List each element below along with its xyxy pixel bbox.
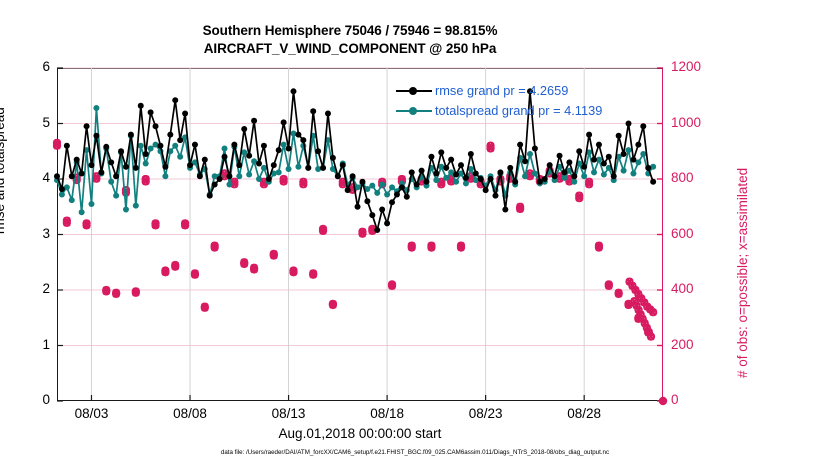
legend-swatch-rmse (396, 85, 432, 97)
chart-title-line-2: AIRCRAFT_V_WIND_COMPONENT @ 250 hPa (0, 40, 700, 58)
chart-legend: rmse grand pr = 4.2659 totalspread grand… (396, 81, 602, 121)
data-file-footer: data file: /Users/raeder/DAI/ATM_forcXX/… (0, 449, 830, 456)
left-axis-tick-1: 1 (10, 337, 50, 352)
bottom-axis-tick-5: 08/28 (549, 406, 619, 421)
left-axis-tick-4: 4 (10, 170, 50, 185)
left-axis-tick-3: 3 (10, 226, 50, 241)
right-axis-tick-400: 400 (671, 281, 717, 296)
right-axis-tick-200: 200 (671, 337, 717, 352)
right-axis-tick-800: 800 (671, 170, 717, 185)
right-axis-label: # of obs: o=possible; x=assimilated (735, 168, 750, 378)
figure-canvas: Southern Hemisphere 75046 / 75946 = 98.8… (0, 0, 830, 470)
legend-item-totalspread[interactable]: totalspread grand pr = 4.1139 (396, 101, 602, 121)
right-axis-tick-600: 600 (671, 226, 717, 241)
right-axis-tick-1000: 1000 (671, 115, 717, 130)
bottom-axis-label: Aug.01,2018 00:00:00 start (57, 426, 663, 441)
right-axis-tick-0: 0 (671, 392, 717, 407)
right-axis-tick-1200: 1200 (671, 59, 717, 74)
bottom-axis-tick-1: 08/08 (155, 406, 225, 421)
legend-item-rmse[interactable]: rmse grand pr = 4.2659 (396, 81, 602, 101)
left-axis-label: rmse and totalspread (0, 107, 7, 234)
bottom-axis-tick-3: 08/18 (352, 406, 422, 421)
left-axis-tick-6: 6 (10, 59, 50, 74)
bottom-axis-tick-4: 08/23 (451, 406, 521, 421)
chart-title: Southern Hemisphere 75046 / 75946 = 98.8… (0, 22, 700, 58)
left-axis-tick-5: 5 (10, 115, 50, 130)
left-axis-tick-2: 2 (10, 281, 50, 296)
left-axis-tick-0: 0 (10, 392, 50, 407)
legend-label-rmse: rmse grand pr = 4.2659 (435, 81, 568, 101)
chart-title-line-1: Southern Hemisphere 75046 / 75946 = 98.8… (0, 22, 700, 40)
bottom-axis-tick-0: 08/03 (56, 406, 126, 421)
legend-swatch-totalspread (396, 105, 432, 117)
bottom-axis-tick-2: 08/13 (254, 406, 324, 421)
legend-label-totalspread: totalspread grand pr = 4.1139 (435, 101, 602, 121)
